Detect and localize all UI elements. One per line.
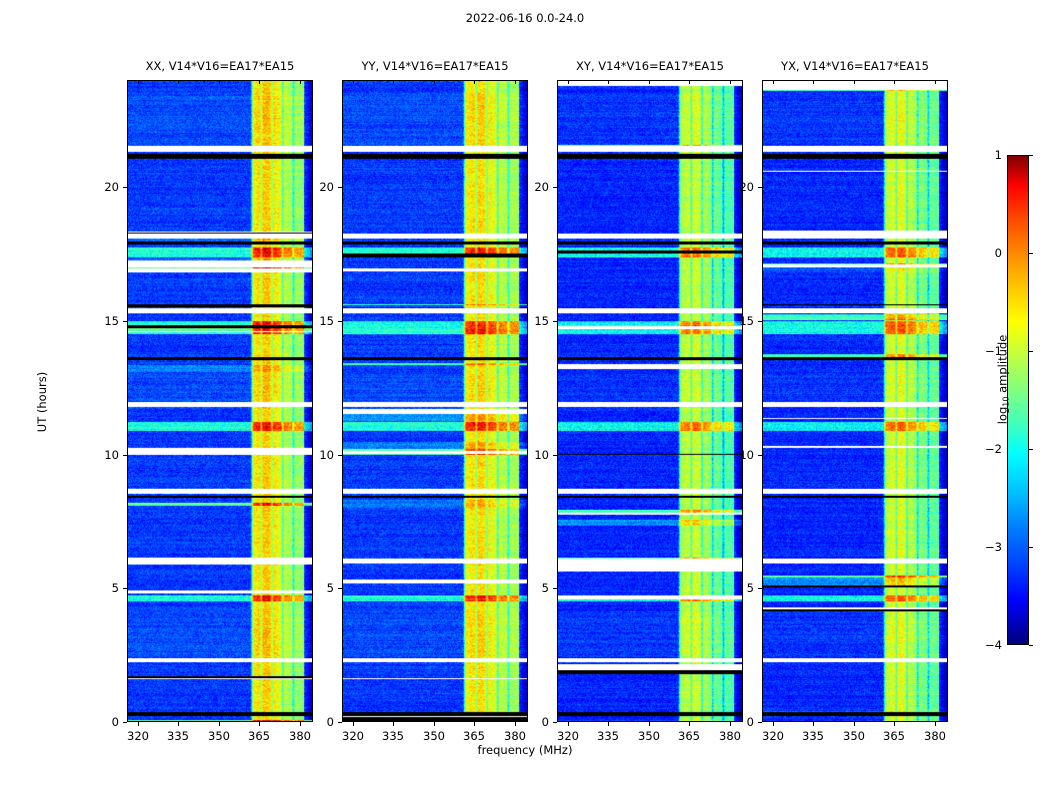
y-tick-label: 10	[515, 448, 549, 462]
x-tick-mark	[568, 722, 569, 726]
x-tick-label: 380	[913, 729, 957, 743]
x-tick-label: 350	[412, 729, 456, 743]
x-tick-label: 350	[832, 729, 876, 743]
x-tick-mark	[894, 722, 895, 726]
y-tick-label: 15	[85, 314, 119, 328]
x-tick-label: 350	[627, 729, 671, 743]
colorbar-tick-label: −3	[972, 540, 1002, 554]
x-tick-label: 365	[667, 729, 711, 743]
heatmap-panel-yx[interactable]	[762, 80, 948, 722]
y-tick-label: 5	[85, 581, 119, 595]
y-tick-label: 10	[720, 448, 754, 462]
y-tick-label: 20	[515, 180, 549, 194]
x-tick-mark	[434, 722, 435, 726]
panel-title-xy: XY, V14*V16=EA17*EA15	[557, 59, 743, 73]
x-tick-mark	[813, 722, 814, 726]
x-tick-mark-top	[568, 80, 569, 84]
x-tick-label: 320	[751, 729, 795, 743]
y-tick-mark	[338, 321, 342, 322]
x-tick-mark	[393, 722, 394, 726]
x-tick-mark-top	[649, 80, 650, 84]
x-tick-mark-top	[773, 80, 774, 84]
x-tick-mark-top	[894, 80, 895, 84]
y-tick-label: 15	[300, 314, 334, 328]
x-tick-label: 350	[197, 729, 241, 743]
y-tick-mark	[338, 187, 342, 188]
x-tick-mark	[854, 722, 855, 726]
x-tick-mark-top	[608, 80, 609, 84]
x-tick-mark-top	[515, 80, 516, 84]
x-tick-mark-top	[138, 80, 139, 84]
colorbar-tick-label: 1	[972, 148, 1002, 162]
colorbar-tick-label: 0	[972, 246, 1002, 260]
figure-canvas: 2022-06-16 0.0-24.0 XX, V14*V16=EA17*EA1…	[0, 0, 1050, 800]
y-tick-label: 0	[720, 715, 754, 729]
y-tick-mark	[758, 455, 762, 456]
x-tick-label: 320	[331, 729, 375, 743]
x-tick-label: 380	[493, 729, 537, 743]
x-tick-mark-top	[813, 80, 814, 84]
x-tick-mark-top	[854, 80, 855, 84]
x-tick-mark	[608, 722, 609, 726]
y-tick-mark	[123, 455, 127, 456]
heatmap-image-yy	[343, 81, 527, 721]
y-tick-label: 20	[300, 180, 334, 194]
heatmap-panel-yy[interactable]	[342, 80, 528, 722]
colorbar-label: log10 amplitude	[996, 300, 1011, 460]
y-tick-mark	[553, 455, 557, 456]
x-tick-mark	[259, 722, 260, 726]
x-tick-mark-top	[730, 80, 731, 84]
y-tick-mark	[758, 722, 762, 723]
x-tick-label: 365	[237, 729, 281, 743]
heatmap-image-yx	[763, 81, 947, 721]
colorbar-tick-mark	[1029, 645, 1033, 646]
y-tick-label: 0	[515, 715, 549, 729]
y-tick-label: 0	[300, 715, 334, 729]
x-tick-label: 335	[586, 729, 630, 743]
x-tick-label: 380	[708, 729, 752, 743]
heatmap-image-xx	[128, 81, 312, 721]
colorbar-tick-mark	[1029, 449, 1033, 450]
y-tick-mark	[758, 321, 762, 322]
x-tick-label: 335	[156, 729, 200, 743]
x-tick-mark	[773, 722, 774, 726]
x-tick-mark-top	[219, 80, 220, 84]
y-tick-label: 15	[720, 314, 754, 328]
y-tick-label: 5	[515, 581, 549, 595]
y-tick-label: 0	[85, 715, 119, 729]
heatmap-panel-xx[interactable]	[127, 80, 313, 722]
y-tick-mark	[338, 722, 342, 723]
x-tick-label: 365	[872, 729, 916, 743]
x-tick-mark	[649, 722, 650, 726]
colorbar-tick-mark	[1029, 253, 1033, 254]
heatmap-image-xy	[558, 81, 742, 721]
x-tick-mark	[474, 722, 475, 726]
x-tick-mark-top	[474, 80, 475, 84]
x-tick-mark-top	[393, 80, 394, 84]
panel-title-yx: YX, V14*V16=EA17*EA15	[762, 59, 948, 73]
y-tick-label: 10	[300, 448, 334, 462]
y-tick-mark	[553, 722, 557, 723]
y-tick-mark	[123, 187, 127, 188]
x-tick-label: 335	[371, 729, 415, 743]
panel-title-yy: YY, V14*V16=EA17*EA15	[342, 59, 528, 73]
y-tick-label: 20	[85, 180, 119, 194]
x-tick-mark-top	[353, 80, 354, 84]
y-tick-mark	[123, 588, 127, 589]
x-tick-label: 320	[116, 729, 160, 743]
x-tick-label: 380	[278, 729, 322, 743]
panel-title-xx: XX, V14*V16=EA17*EA15	[127, 59, 313, 73]
x-tick-mark-top	[689, 80, 690, 84]
x-tick-mark	[353, 722, 354, 726]
x-tick-mark-top	[300, 80, 301, 84]
x-tick-mark	[178, 722, 179, 726]
y-tick-label: 5	[720, 581, 754, 595]
y-tick-label: 15	[515, 314, 549, 328]
y-tick-mark	[553, 187, 557, 188]
y-tick-mark	[758, 588, 762, 589]
x-tick-label: 365	[452, 729, 496, 743]
colorbar-tick-label: −1	[972, 344, 1002, 358]
x-tick-mark-top	[178, 80, 179, 84]
colorbar-tick-mark	[1029, 351, 1033, 352]
x-tick-label: 335	[791, 729, 835, 743]
x-tick-mark-top	[935, 80, 936, 84]
x-axis-label: frequency (MHz)	[0, 743, 1050, 757]
y-tick-mark	[123, 722, 127, 723]
y-tick-label: 10	[85, 448, 119, 462]
y-tick-mark	[553, 321, 557, 322]
y-tick-mark	[338, 588, 342, 589]
y-tick-mark	[758, 187, 762, 188]
x-tick-mark-top	[434, 80, 435, 84]
y-tick-mark	[553, 588, 557, 589]
y-tick-mark	[338, 455, 342, 456]
x-tick-label: 320	[546, 729, 590, 743]
heatmap-panel-xy[interactable]	[557, 80, 743, 722]
y-tick-mark	[123, 321, 127, 322]
x-tick-mark	[689, 722, 690, 726]
colorbar-tick-mark	[1029, 155, 1033, 156]
x-tick-mark	[219, 722, 220, 726]
y-tick-label: 20	[720, 180, 754, 194]
colorbar-tick-mark	[1029, 547, 1033, 548]
y-axis-label: UT (hours)	[35, 342, 49, 462]
figure-suptitle: 2022-06-16 0.0-24.0	[0, 11, 1050, 25]
x-tick-mark	[138, 722, 139, 726]
colorbar-tick-label: −2	[972, 442, 1002, 456]
x-tick-mark-top	[259, 80, 260, 84]
x-tick-mark	[935, 722, 936, 726]
colorbar-tick-label: −4	[972, 638, 1002, 652]
y-tick-label: 5	[300, 581, 334, 595]
